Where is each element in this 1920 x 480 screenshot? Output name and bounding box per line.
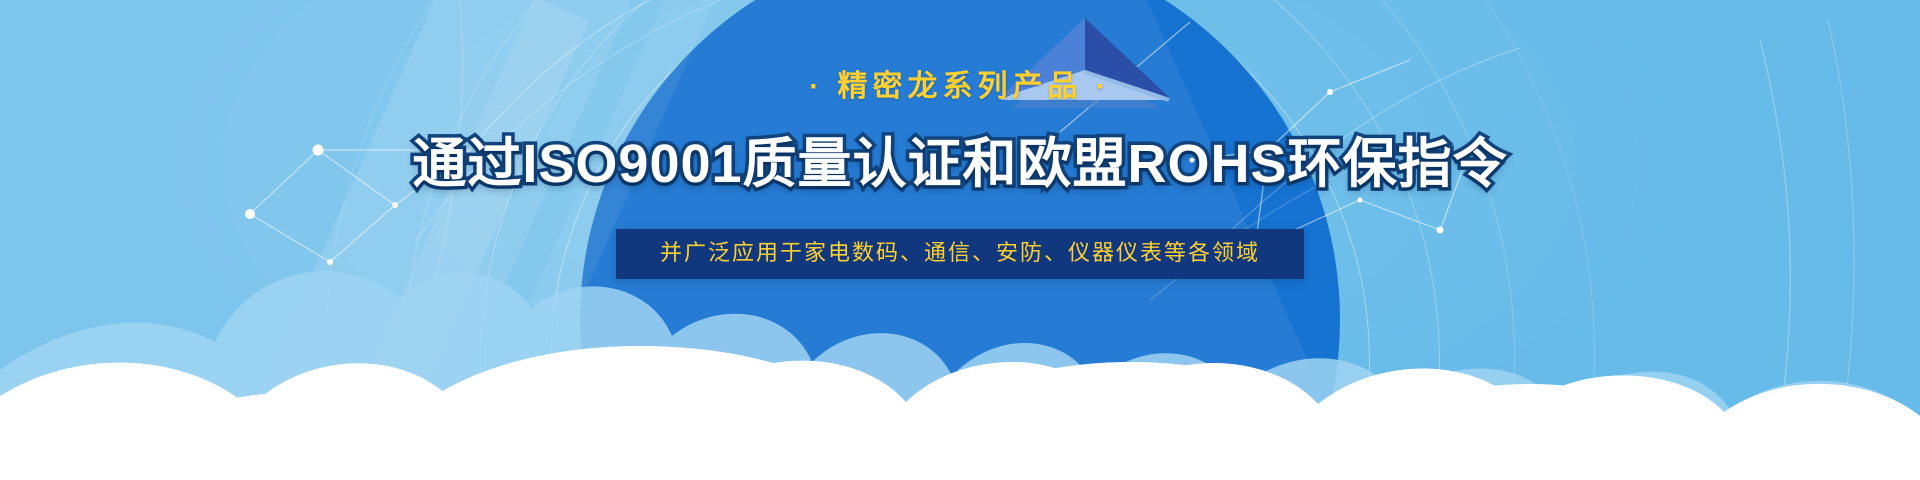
promo-banner: · 精密龙系列产品 · 通过ISO9001质量认证和欧盟ROHS环保指令 并广泛… — [0, 0, 1920, 480]
caption-bar: 并广泛应用于家电数码、通信、安防、仪器仪表等各领域 — [616, 229, 1304, 279]
banner-content: · 精密龙系列产品 · 通过ISO9001质量认证和欧盟ROHS环保指令 并广泛… — [0, 0, 1920, 480]
banner-headline: 通过ISO9001质量认证和欧盟ROHS环保指令 — [412, 136, 1507, 193]
banner-caption: 并广泛应用于家电数码、通信、安防、仪器仪表等各领域 — [660, 240, 1260, 265]
banner-subtitle: · 精密龙系列产品 · — [809, 72, 1111, 102]
